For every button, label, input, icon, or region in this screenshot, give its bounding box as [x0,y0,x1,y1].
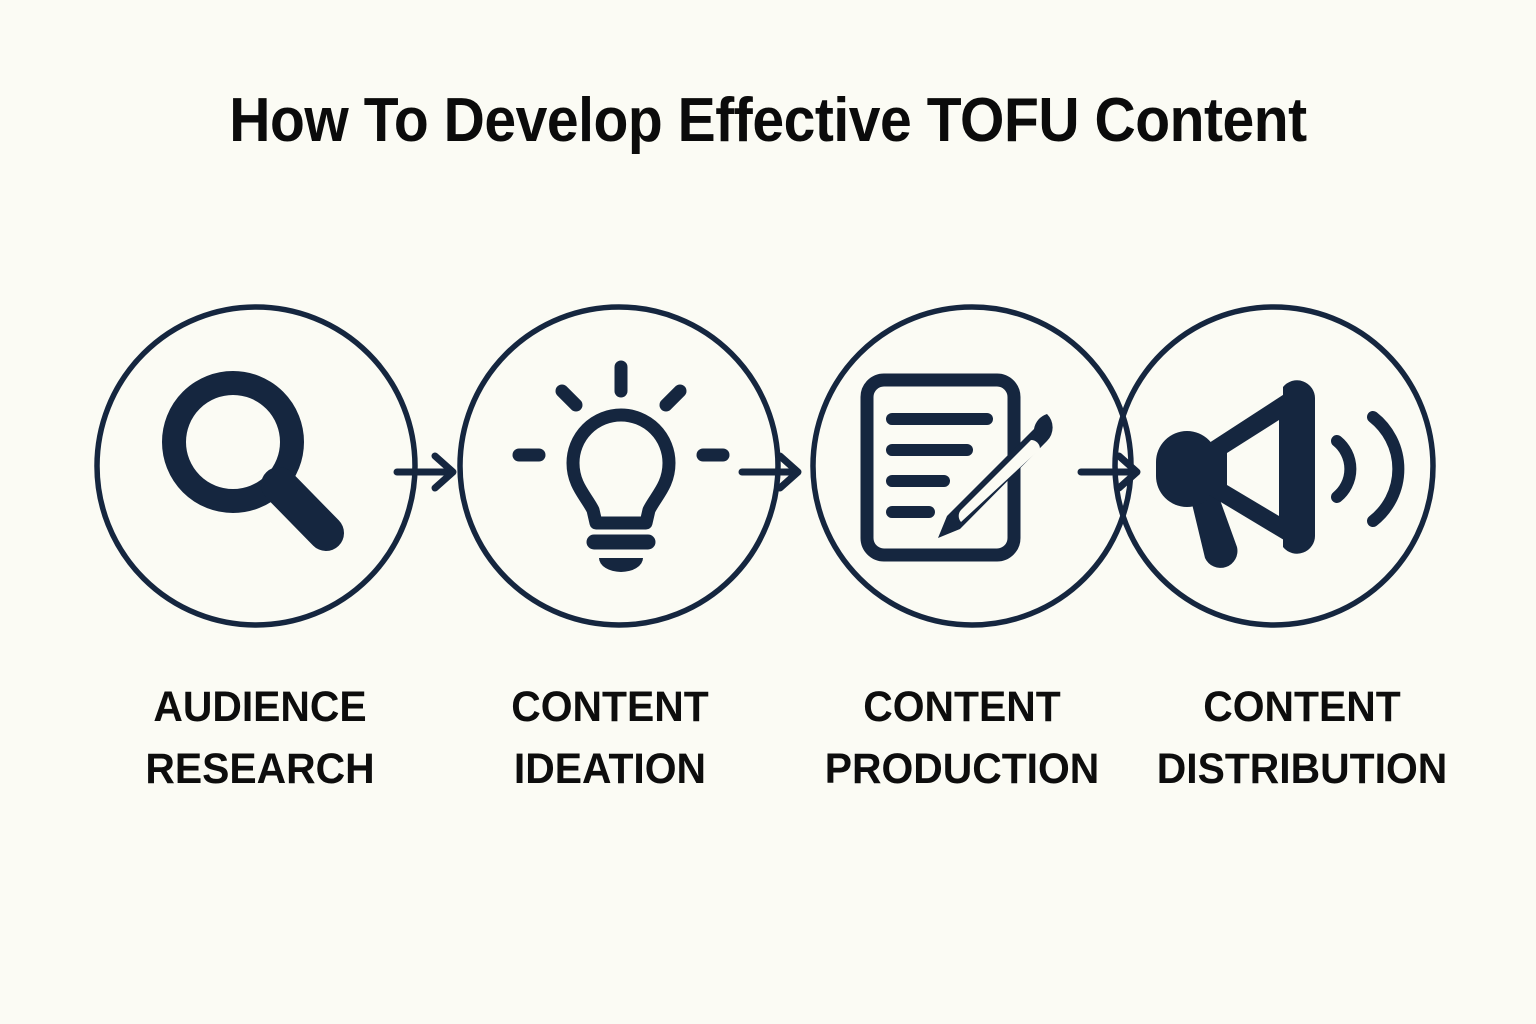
label-audience-research: AUDIENCE RESEARCH [70,676,450,800]
magnifying-glass-icon [93,303,419,629]
step-labels: AUDIENCE RESEARCH CONTENT IDEATION CONTE… [0,676,1536,806]
label-line-1: CONTENT [420,676,800,738]
megaphone-icon [1111,303,1437,629]
arrow-right-icon [736,448,812,496]
label-content-distribution: CONTENT DISTRIBUTION [1080,676,1525,800]
label-line-2: RESEARCH [70,738,450,800]
label-line-1: CONTENT [1080,676,1525,738]
step-audience-research[interactable] [93,300,427,634]
label-content-ideation: CONTENT IDEATION [420,676,800,800]
label-line-2: DISTRIBUTION [1080,738,1525,800]
page-title: How To Develop Effective TOFU Content [61,88,1474,153]
lightbulb-icon [456,303,782,629]
process-flow [93,300,1445,640]
step-content-distribution[interactable] [1111,300,1445,634]
label-line-2: IDEATION [420,738,800,800]
infographic-canvas: How To Develop Effective TOFU Content [0,0,1536,1024]
label-line-1: AUDIENCE [70,676,450,738]
